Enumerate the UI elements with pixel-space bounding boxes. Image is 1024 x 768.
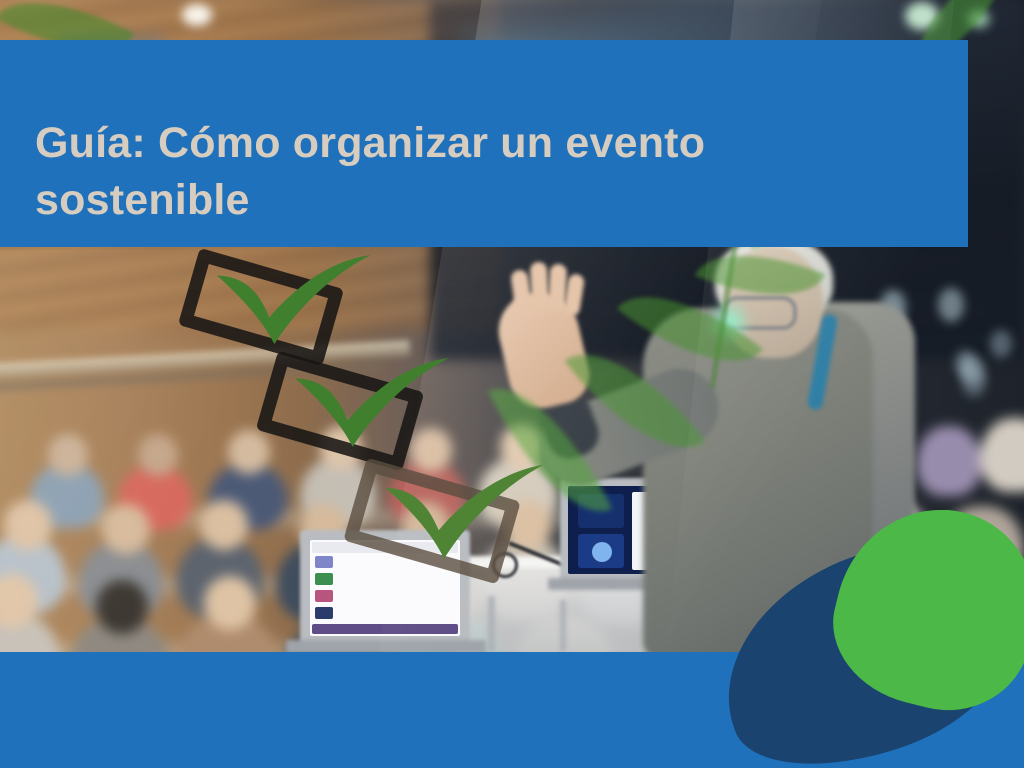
laptop-base [286,640,486,652]
bokeh-light [990,330,1012,358]
bokeh-light [962,365,986,397]
podium-leg [488,596,495,652]
green-spotlight [703,300,755,344]
screen-icon [315,590,333,602]
title-banner: Guía: Cómo organizar un evento sostenibl… [0,40,968,247]
screen-icon [315,573,333,585]
audience-person [48,434,88,476]
speaker-finger [530,262,550,313]
audience-person [4,500,52,550]
podium-leg [560,600,566,652]
audience-person [96,580,148,634]
audience-person [138,434,178,476]
bokeh-light [938,288,964,322]
slide-canvas: Guía: Cómo organizar un evento sostenibl… [0,0,1024,768]
title-line-1: Guía: Cómo organizar un evento [35,115,935,172]
page-title: Guía: Cómo organizar un evento sostenibl… [35,115,935,229]
title-line-2: sostenible [35,172,935,229]
ceiling-light [968,10,990,28]
screen-icon [315,607,333,619]
audience-person [102,504,150,554]
ceiling-light [182,4,212,26]
audience-person [200,500,248,550]
audience-person [228,430,270,474]
screen-taskbar [312,624,458,634]
audience-person [204,576,256,630]
audience-person [916,426,982,496]
ceiling-light [905,2,939,30]
audience-person [980,418,1024,492]
screen-icon [315,556,333,568]
